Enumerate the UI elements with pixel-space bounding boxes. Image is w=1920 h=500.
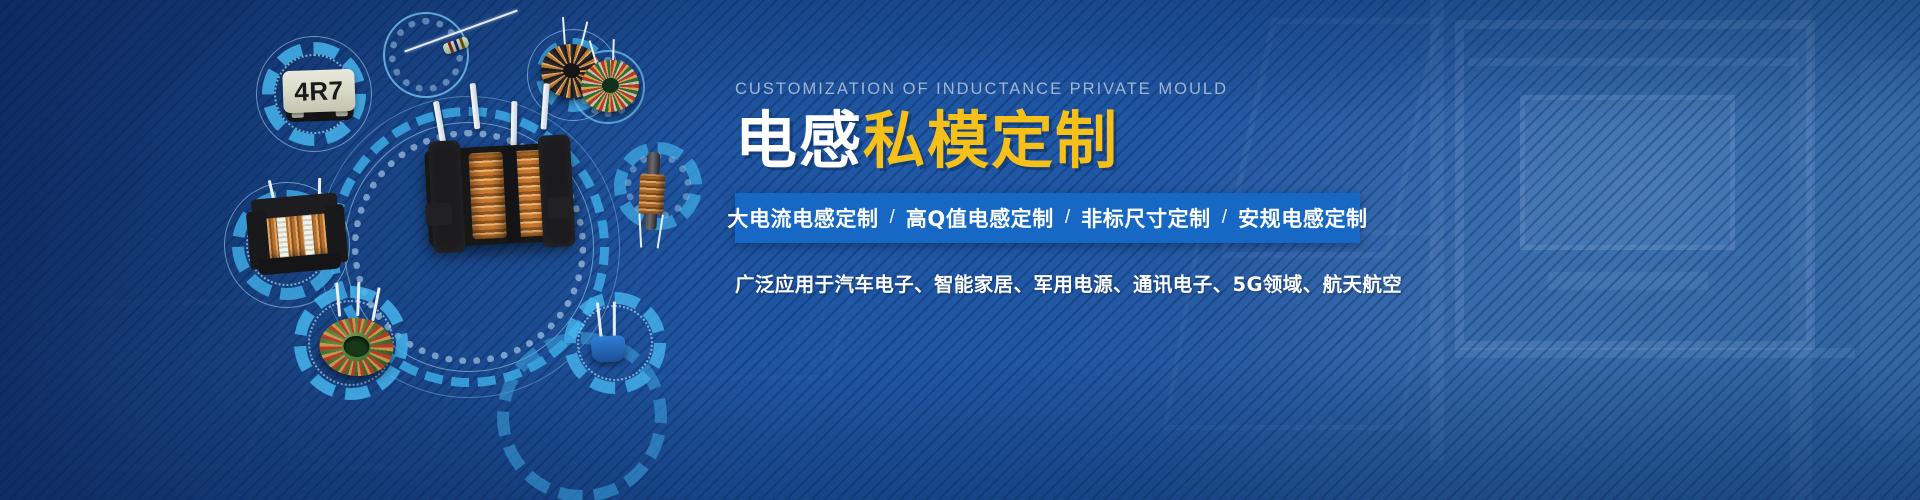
- feature-item-4: 安规电感定制: [1238, 203, 1368, 233]
- page-title-gold-part: 私模定制: [863, 104, 1119, 177]
- drum-lead: [638, 213, 642, 247]
- headline-text-block: CUSTOMIZATION OF INDUCTANCE PRIVATE MOUL…: [735, 80, 1375, 297]
- choke-left-bobbin: [428, 140, 466, 254]
- blue-radial-inductor: [581, 307, 634, 378]
- feature-separator: /: [1054, 207, 1081, 229]
- feature-separator: /: [1211, 207, 1238, 229]
- radial-lead: [596, 302, 603, 338]
- choke-right-tab: [547, 196, 574, 219]
- feature-item-2: 高Q值电感定制: [906, 203, 1054, 233]
- common-mode-choke: [245, 192, 349, 278]
- radial-lead: [613, 302, 616, 338]
- hud-ring-bottom-arc: [497, 332, 667, 500]
- large-common-mode-choke: [414, 104, 582, 260]
- choke-right-bobbin: [538, 134, 576, 248]
- hud-ring-axial-ticks: [389, 18, 463, 92]
- radial-body: [591, 335, 626, 363]
- english-eyebrow-text: CUSTOMIZATION OF INDUCTANCE PRIVATE MOUL…: [735, 80, 1375, 99]
- page-title: 电感私模定制: [735, 108, 1375, 173]
- smd-marking-label: 4R7: [282, 75, 355, 108]
- drum-copper-winding: [638, 173, 665, 214]
- feature-item-1: 大电流电感定制: [727, 203, 878, 233]
- rainbow-toroid: [578, 56, 643, 116]
- drum-core-inductor: [627, 151, 676, 245]
- green-toroid-choke: [311, 297, 402, 381]
- smd-power-inductor: 4R7: [282, 61, 356, 125]
- application-description: 广泛应用于汽车电子、智能家居、军用电源、通讯电子、5G领域、航天航空: [735, 268, 1375, 297]
- toroid-pin: [356, 282, 360, 316]
- feature-item-3: 非标尺寸定制: [1081, 203, 1211, 233]
- feature-separator: /: [879, 207, 906, 229]
- choke-copper-winding: [468, 152, 506, 240]
- promo-banner: 4R7: [0, 0, 1920, 500]
- choke-pin: [511, 101, 518, 147]
- feature-bar: 大电流电感定制 / 高Q值电感定制 / 非标尺寸定制 / 安规电感定制: [735, 193, 1360, 243]
- drum-lead: [657, 215, 664, 249]
- page-title-white-part: 电感: [735, 104, 863, 177]
- choke-left-tab: [425, 202, 452, 225]
